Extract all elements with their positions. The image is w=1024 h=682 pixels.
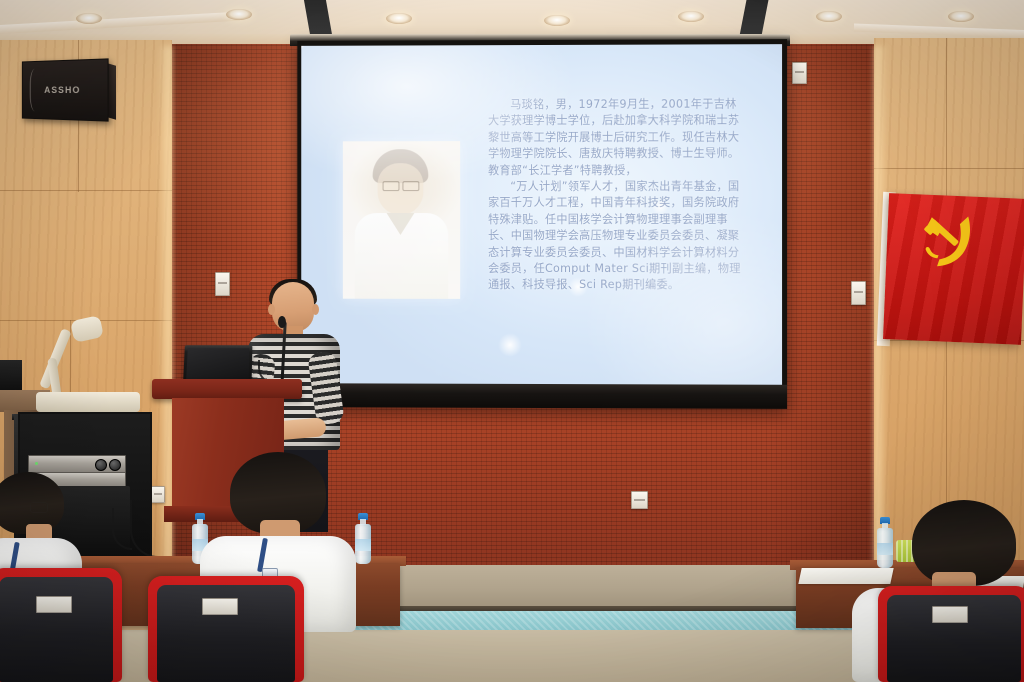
wall-outlet-center[interactable] (631, 491, 648, 509)
laptop-screen (186, 348, 249, 379)
rack-knob-icon[interactable] (95, 459, 107, 471)
water-bottle[interactable] (877, 517, 893, 569)
microphone-capsule-icon (278, 316, 286, 328)
power-led-icon (35, 462, 38, 465)
auditorium-chair-center[interactable] (148, 576, 304, 682)
wall-speaker: ASSHO (22, 58, 109, 121)
rack-knob-icon[interactable] (109, 459, 121, 471)
lectern-top (152, 379, 302, 399)
auditorium-chair-right[interactable] (878, 586, 1024, 682)
paper-documents[interactable] (798, 568, 893, 584)
seat-number-tag (932, 606, 968, 623)
presenter-ear-left (268, 304, 275, 315)
slide-paragraph-2: “万人计划”领军人才，国家杰出青年基金，国家百千万人才工程，中国青年科技奖，国务… (488, 179, 747, 294)
seat-number-tag (36, 596, 72, 613)
lecture-hall-photograph: ASSHO 马琰铭，男，1972年9月生，2001年于吉林大学获理学博士学位，后… (0, 0, 1024, 682)
communist-party-flag (883, 193, 1024, 345)
downlight-icon (948, 11, 974, 22)
speaker-grille-icon (30, 69, 40, 112)
downlight-icon (816, 11, 842, 22)
downlight-icon (544, 15, 570, 26)
slide-sparkle (498, 333, 522, 357)
document-camera-base (36, 392, 140, 412)
presenter-ear-right (312, 304, 319, 315)
hammer-and-sickle-icon (910, 208, 987, 277)
slide-paragraph-1: 马琰铭，男，1972年9月生，2001年于吉林大学获理学博士学位，后赴加拿大科学… (488, 96, 747, 179)
downlight-icon (226, 9, 252, 20)
projection-screen: 马琰铭，男，1972年9月生，2001年于吉林大学获理学博士学位，后赴加拿大科学… (297, 39, 787, 409)
seat-number-tag (202, 598, 238, 615)
wall-plate-right[interactable] (851, 281, 866, 305)
downlight-icon (76, 13, 102, 24)
auditorium-chair-left[interactable] (0, 568, 122, 682)
presenter-laptop[interactable] (183, 345, 252, 383)
downlight-icon (678, 11, 704, 22)
slide-body-text: 马琰铭，男，1972年9月生，2001年于吉林大学获理学博士学位，后赴加拿大科学… (488, 96, 747, 294)
downlight-icon (386, 13, 412, 24)
panel-seam (874, 168, 1024, 169)
bottle-label (355, 539, 371, 551)
speaker-brand-label: ASSHO (44, 85, 80, 95)
portrait-glasses-left (383, 181, 400, 191)
portrait-glasses-right (402, 181, 419, 191)
projected-slide: 马琰铭，男，1972年9月生，2001年于吉林大学获理学博士学位，后赴加拿大科学… (301, 44, 782, 385)
screen-weighted-bar (297, 383, 787, 409)
wall-plate-left[interactable] (215, 272, 230, 296)
eyeglasses-icon (30, 502, 48, 513)
chair-backrest (0, 577, 113, 682)
rack-amplifier[interactable] (28, 455, 126, 473)
panel-seam (0, 190, 172, 191)
water-bottle[interactable] (355, 513, 371, 565)
side-monitor-edge (0, 360, 22, 390)
wall-plate-upper-right[interactable] (792, 62, 807, 84)
bottle-label (877, 543, 893, 555)
slide-portrait-photo (343, 141, 460, 299)
